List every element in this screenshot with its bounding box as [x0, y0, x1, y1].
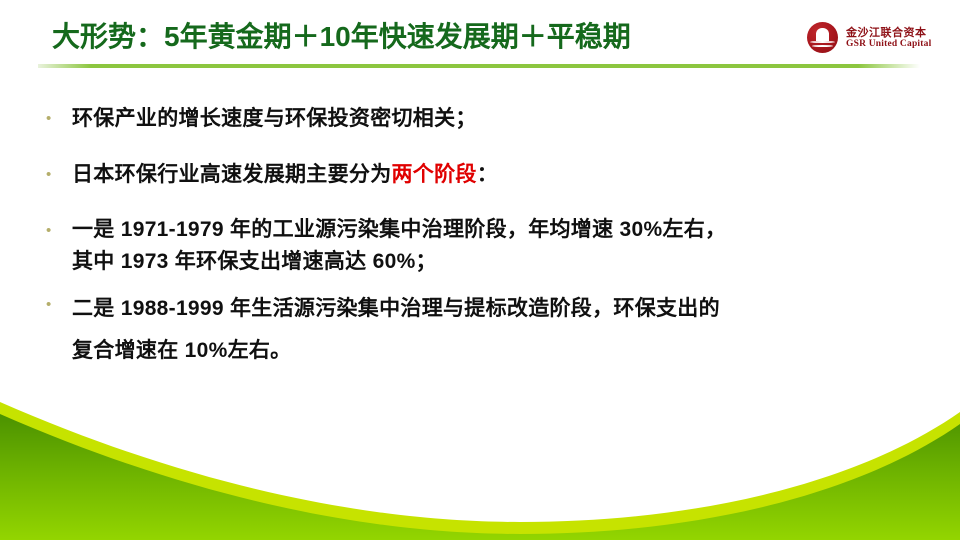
hill-svg — [0, 380, 960, 540]
bullet-marker-icon: • — [44, 214, 72, 248]
bullet-line: 复合增速在 10%左右。 — [72, 330, 924, 372]
bullet-marker-icon: • — [44, 102, 72, 136]
bullet-text: 一是 1971-1979 年的工业源污染集中治理阶段，年均增速 30%左右， 其… — [72, 214, 924, 278]
title-underline-rule — [38, 64, 920, 68]
list-item: • 日本环保行业高速发展期主要分为两个阶段： — [44, 158, 924, 192]
bullet-text: 环保产业的增长速度与环保投资密切相关； — [72, 102, 924, 136]
logo-name-cn: 金沙江联合资本 — [846, 27, 931, 39]
list-item: • 一是 1971-1979 年的工业源污染集中治理阶段，年均增速 30%左右，… — [44, 214, 924, 278]
gsr-emblem-icon — [806, 21, 840, 55]
emblem-arch — [816, 28, 829, 41]
bullet-text: 二是 1988-1999 年生活源污染集中治理与提标改造阶段，环保支出的 复合增… — [72, 288, 924, 372]
slide-canvas: 大形势：5年黄金期＋10年快速发展期＋平稳期 金沙江联合资本 GSR Unite… — [0, 0, 960, 540]
slide-header: 大形势：5年黄金期＋10年快速发展期＋平稳期 金沙江联合资本 GSR Unite… — [0, 0, 960, 78]
list-item: • 二是 1988-1999 年生活源污染集中治理与提标改造阶段，环保支出的 复… — [44, 288, 924, 372]
bullet-marker-icon: • — [44, 288, 72, 322]
bullet-line: 二是 1988-1999 年生活源污染集中治理与提标改造阶段，环保支出的 — [72, 288, 924, 330]
bullet-line: 环保产业的增长速度与环保投资密切相关； — [72, 102, 924, 136]
bullet-list: • 环保产业的增长速度与环保投资密切相关； • 日本环保行业高速发展期主要分为两… — [44, 102, 924, 372]
emblem-wave-upper — [810, 41, 835, 43]
green-hill-decoration — [0, 380, 960, 540]
list-item: • 环保产业的增长速度与环保投资密切相关； — [44, 102, 924, 136]
emblem-wave-lower — [812, 45, 833, 47]
bullet-text: 日本环保行业高速发展期主要分为两个阶段： — [72, 158, 924, 192]
bullet-marker-icon: • — [44, 158, 72, 192]
logo-name-en: GSR United Capital — [846, 39, 931, 49]
bullet-line: 日本环保行业高速发展期主要分为两个阶段： — [72, 158, 924, 192]
hill-band — [0, 414, 960, 540]
logo-wordmark: 金沙江联合资本 GSR United Capital — [846, 27, 931, 50]
company-logo: 金沙江联合资本 GSR United Capital — [806, 20, 936, 56]
page-title: 大形势：5年黄金期＋10年快速发展期＋平稳期 — [52, 18, 631, 56]
bullet-line-post: ： — [477, 163, 498, 186]
bullet-line-pre: 日本环保行业高速发展期主要分为 — [72, 163, 392, 186]
bullet-line: 其中 1973 年环保支出增速高达 60%； — [72, 246, 924, 278]
highlighted-phrase: 两个阶段 — [392, 163, 477, 186]
bullet-line: 一是 1971-1979 年的工业源污染集中治理阶段，年均增速 30%左右， — [72, 214, 924, 246]
